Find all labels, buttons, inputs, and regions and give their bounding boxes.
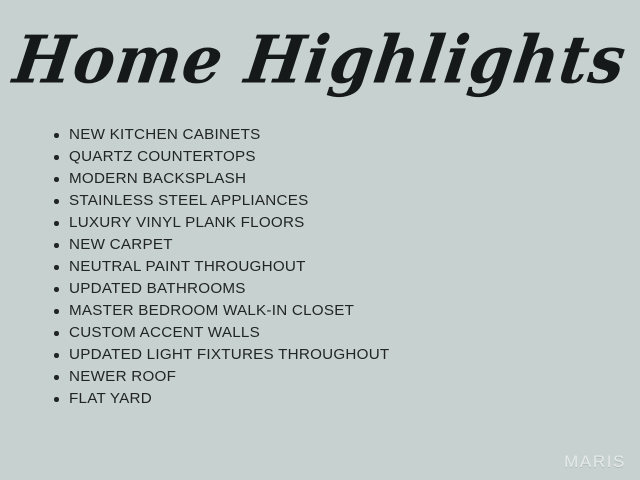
list-item-label: CUSTOM ACCENT WALLS: [69, 324, 260, 341]
list-item-label: NEWER ROOF: [69, 368, 176, 385]
bullet-dot-icon: [54, 331, 59, 336]
bullet-dot-icon: [54, 243, 59, 248]
highlights-list: NEW KITCHEN CABINETS QUARTZ COUNTERTOPS …: [53, 124, 593, 410]
bullet-dot-icon: [54, 309, 59, 314]
list-item: NEUTRAL PAINT THROUGHOUT: [53, 256, 593, 278]
list-item: NEW KITCHEN CABINETS: [53, 124, 593, 146]
list-item-label: UPDATED BATHROOMS: [69, 280, 246, 297]
list-item: LUXURY VINYL PLANK FLOORS: [53, 212, 593, 234]
bullet-dot-icon: [54, 375, 59, 380]
list-item-label: LUXURY VINYL PLANK FLOORS: [69, 214, 305, 231]
bullet-dot-icon: [54, 155, 59, 160]
page-title: Home Highlights: [0, 14, 640, 106]
bullet-dot-icon: [54, 133, 59, 138]
page-title-text: Home Highlights: [0, 11, 640, 109]
list-item-label: STAINLESS STEEL APPLIANCES: [69, 192, 308, 209]
bullet-dot-icon: [54, 199, 59, 204]
list-item: MODERN BACKSPLASH: [53, 168, 593, 190]
list-item: UPDATED BATHROOMS: [53, 278, 593, 300]
list-item: STAINLESS STEEL APPLIANCES: [53, 190, 593, 212]
list-item: NEW CARPET: [53, 234, 593, 256]
list-item-label: QUARTZ COUNTERTOPS: [69, 148, 256, 165]
bullet-dot-icon: [54, 221, 59, 226]
bullet-dot-icon: [54, 397, 59, 402]
list-item: NEWER ROOF: [53, 366, 593, 388]
list-item: FLAT YARD: [53, 388, 593, 410]
maris-watermark: MARIS: [564, 452, 626, 472]
bullet-dot-icon: [54, 353, 59, 358]
list-item: QUARTZ COUNTERTOPS: [53, 146, 593, 168]
list-item: CUSTOM ACCENT WALLS: [53, 322, 593, 344]
list-item-label: UPDATED LIGHT FIXTURES THROUGHOUT: [69, 346, 389, 363]
list-item: MASTER BEDROOM WALK-IN CLOSET: [53, 300, 593, 322]
list-item-label: MODERN BACKSPLASH: [69, 170, 246, 187]
bullet-dot-icon: [54, 287, 59, 292]
list-item-label: NEW KITCHEN CABINETS: [69, 126, 261, 143]
list-item-label: FLAT YARD: [69, 390, 152, 407]
bullet-dot-icon: [54, 265, 59, 270]
list-item-label: NEUTRAL PAINT THROUGHOUT: [69, 258, 306, 275]
home-highlights-slide: Home Highlights NEW KITCHEN CABINETS QUA…: [0, 0, 640, 480]
list-item-label: NEW CARPET: [69, 236, 173, 253]
list-item-label: MASTER BEDROOM WALK-IN CLOSET: [69, 302, 354, 319]
list-item: UPDATED LIGHT FIXTURES THROUGHOUT: [53, 344, 593, 366]
bullet-dot-icon: [54, 177, 59, 182]
